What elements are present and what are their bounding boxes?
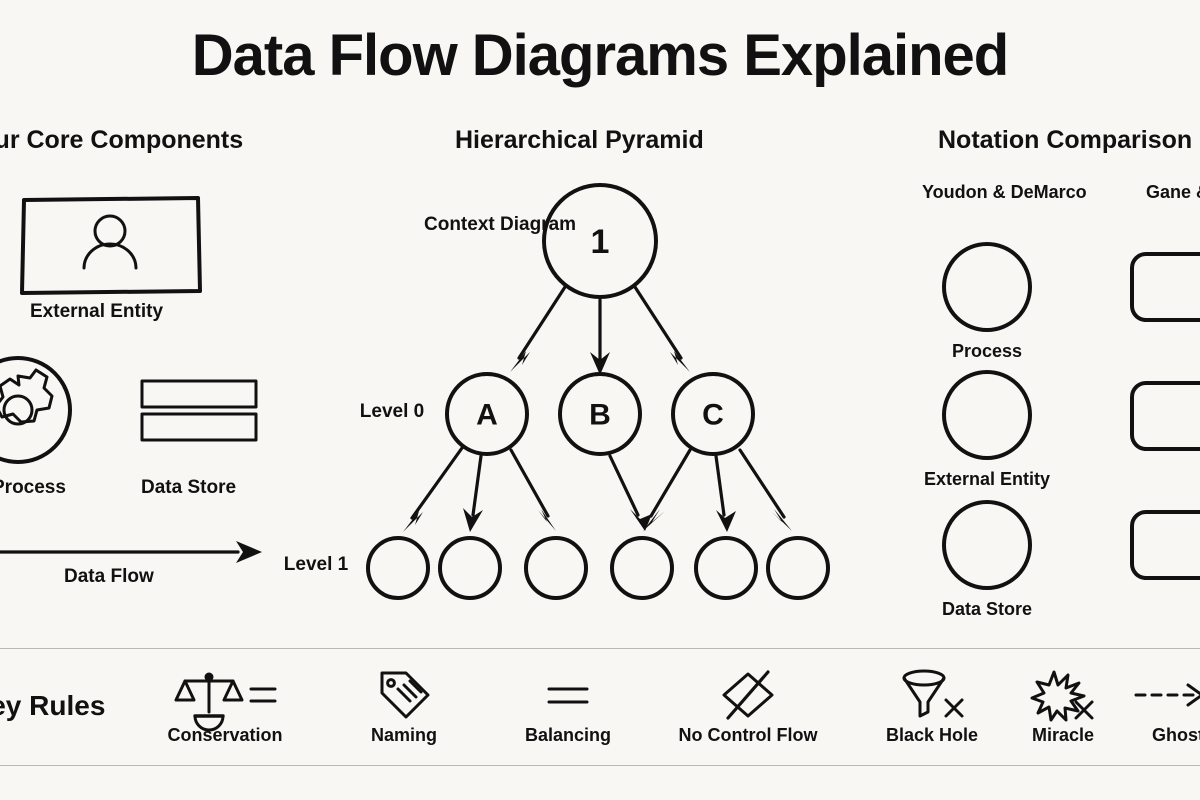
notation-gane-process-shape (1132, 254, 1200, 320)
label-data-store: Data Store (141, 477, 236, 499)
rule-label: No Control Flow (679, 725, 818, 746)
rule-item-balancing[interactable]: Balancing (492, 649, 644, 765)
label-external-entity: External Entity (30, 301, 163, 323)
label-data-flow: Data Flow (64, 566, 154, 588)
tag-icon (376, 669, 432, 721)
pyramid-node-label: B (589, 399, 611, 432)
process-shape (0, 358, 70, 462)
funnel-x-icon (898, 669, 966, 721)
starburst-x-icon (1030, 669, 1096, 721)
label-context-diagram: Context Diagram (424, 214, 516, 237)
gear-icon (0, 370, 52, 424)
page-title: Data Flow Diagrams Explained (0, 26, 1200, 87)
rule-label: Miracle (1032, 725, 1094, 746)
label-level-0: Level 0 (352, 401, 432, 424)
divider-bottom (0, 765, 1200, 766)
section-header-core-components: Four Core Components (0, 126, 243, 155)
dashed-arrow-icon (1118, 669, 1200, 721)
pyramid-node-l1-1[interactable] (368, 538, 428, 598)
equals-icon (543, 669, 593, 721)
pyramid-node-context[interactable]: 1 (544, 185, 656, 297)
section-header-notation-comparison: Notation Comparison (938, 126, 1192, 155)
external-entity-shape (22, 198, 200, 293)
rule-label: Balancing (525, 725, 611, 746)
pyramid-node-label: 1 (591, 223, 610, 261)
pyramid-node-label: A (476, 399, 498, 432)
pyramid-node-l1-2[interactable] (440, 538, 500, 598)
data-flow-shape (0, 541, 262, 563)
balance-scale-equals-icon (171, 669, 279, 721)
notation-gane-data-store-shape (1132, 512, 1200, 578)
pyramid-node-c[interactable]: C (673, 374, 753, 454)
rule-item-conservation[interactable]: Conservation (132, 649, 318, 765)
rules-strip: Conservation Naming (0, 649, 1200, 765)
pyramid-node-l1-4[interactable] (612, 538, 672, 598)
rule-item-no-control-flow[interactable]: No Control Flow (656, 649, 840, 765)
rule-label: Black Hole (886, 725, 978, 746)
notation-youdon-data-store-shape (944, 502, 1030, 588)
pyramid-edges-context-to-level0 (510, 287, 690, 375)
notation-youdon-external-entity-shape (944, 372, 1030, 458)
pyramid-node-l1-3[interactable] (526, 538, 586, 598)
pyramid-node-label: C (702, 399, 724, 432)
notation-row-label-process: Process (897, 341, 1077, 363)
notation-gane-external-entity-shape (1132, 383, 1200, 449)
label-process: Process (0, 477, 66, 499)
diagram-page: Data Flow Diagrams Explained Four Core C… (0, 0, 1200, 800)
pyramid-node-l1-5[interactable] (696, 538, 756, 598)
person-icon (84, 216, 136, 268)
notation-row-label-data-store: Data Store (897, 599, 1077, 621)
crossed-diamond-icon (718, 669, 778, 721)
rule-item-ghost[interactable]: Ghost (1118, 649, 1200, 765)
rule-label: Ghost (1152, 725, 1200, 746)
rule-item-miracle[interactable]: Miracle (1000, 649, 1126, 765)
notation-row-label-external-entity: External Entity (897, 469, 1077, 491)
rule-label: Conservation (167, 725, 282, 746)
pyramid-edges-level0-to-level1 (403, 448, 792, 532)
notation-youdon-process-shape (944, 244, 1030, 330)
rule-item-naming[interactable]: Naming (330, 649, 478, 765)
label-level-1: Level 1 (276, 554, 356, 577)
rule-label: Naming (371, 725, 437, 746)
section-header-hierarchical-pyramid: Hierarchical Pyramid (455, 126, 704, 155)
pyramid-node-l1-6[interactable] (768, 538, 828, 598)
notation-column-gane-sarson: Gane & Sarson (1146, 182, 1200, 204)
pyramid-node-b[interactable]: B (560, 374, 640, 454)
rule-item-black-hole[interactable]: Black Hole (856, 649, 1008, 765)
notation-column-youdon-demarco: Youdon & DeMarco (922, 182, 1052, 204)
pyramid-node-a[interactable]: A (447, 374, 527, 454)
data-store-shape (142, 381, 256, 440)
